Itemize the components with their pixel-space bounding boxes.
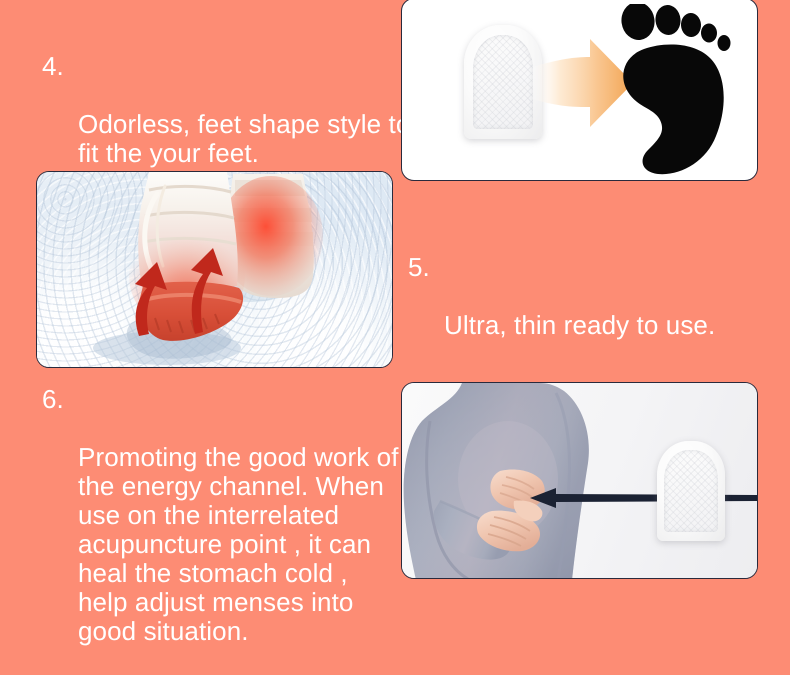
feature-item-6-number: 6.: [42, 385, 64, 414]
snow-boots-card-inner: [37, 172, 392, 367]
feature-item-5: 5. Ultra, thin ready to use.: [408, 253, 758, 369]
feature-item-6: 6. Promoting the good work of the energy…: [42, 385, 402, 675]
black-footprint-icon: [614, 4, 744, 176]
red-heat-arrows: [117, 232, 237, 342]
feature-item-5-text: Ultra, thin ready to use.: [444, 311, 758, 340]
foot-shape-card-inner: [402, 0, 757, 180]
heat-patch-graphic-abdomen: [657, 441, 725, 541]
woman-torso: [402, 383, 636, 578]
feature-item-5-number: 5.: [408, 253, 430, 282]
snow-boots-card: [36, 171, 393, 368]
heat-patch-inner-panel-abdomen: [664, 450, 717, 532]
heat-patch-inner-panel: [473, 35, 534, 129]
abdomen-card: [401, 382, 758, 579]
product-feature-panel: 4. Odorless, feet shape style to fit the…: [0, 0, 790, 628]
abdomen-card-inner: [402, 383, 757, 578]
feature-item-4-number: 4.: [42, 52, 64, 81]
feature-item-6-text: Promoting the good work of the energy ch…: [78, 443, 402, 646]
foot-shape-card: [401, 0, 758, 181]
feature-item-4-text: Odorless, feet shape style to fit the yo…: [78, 110, 412, 168]
